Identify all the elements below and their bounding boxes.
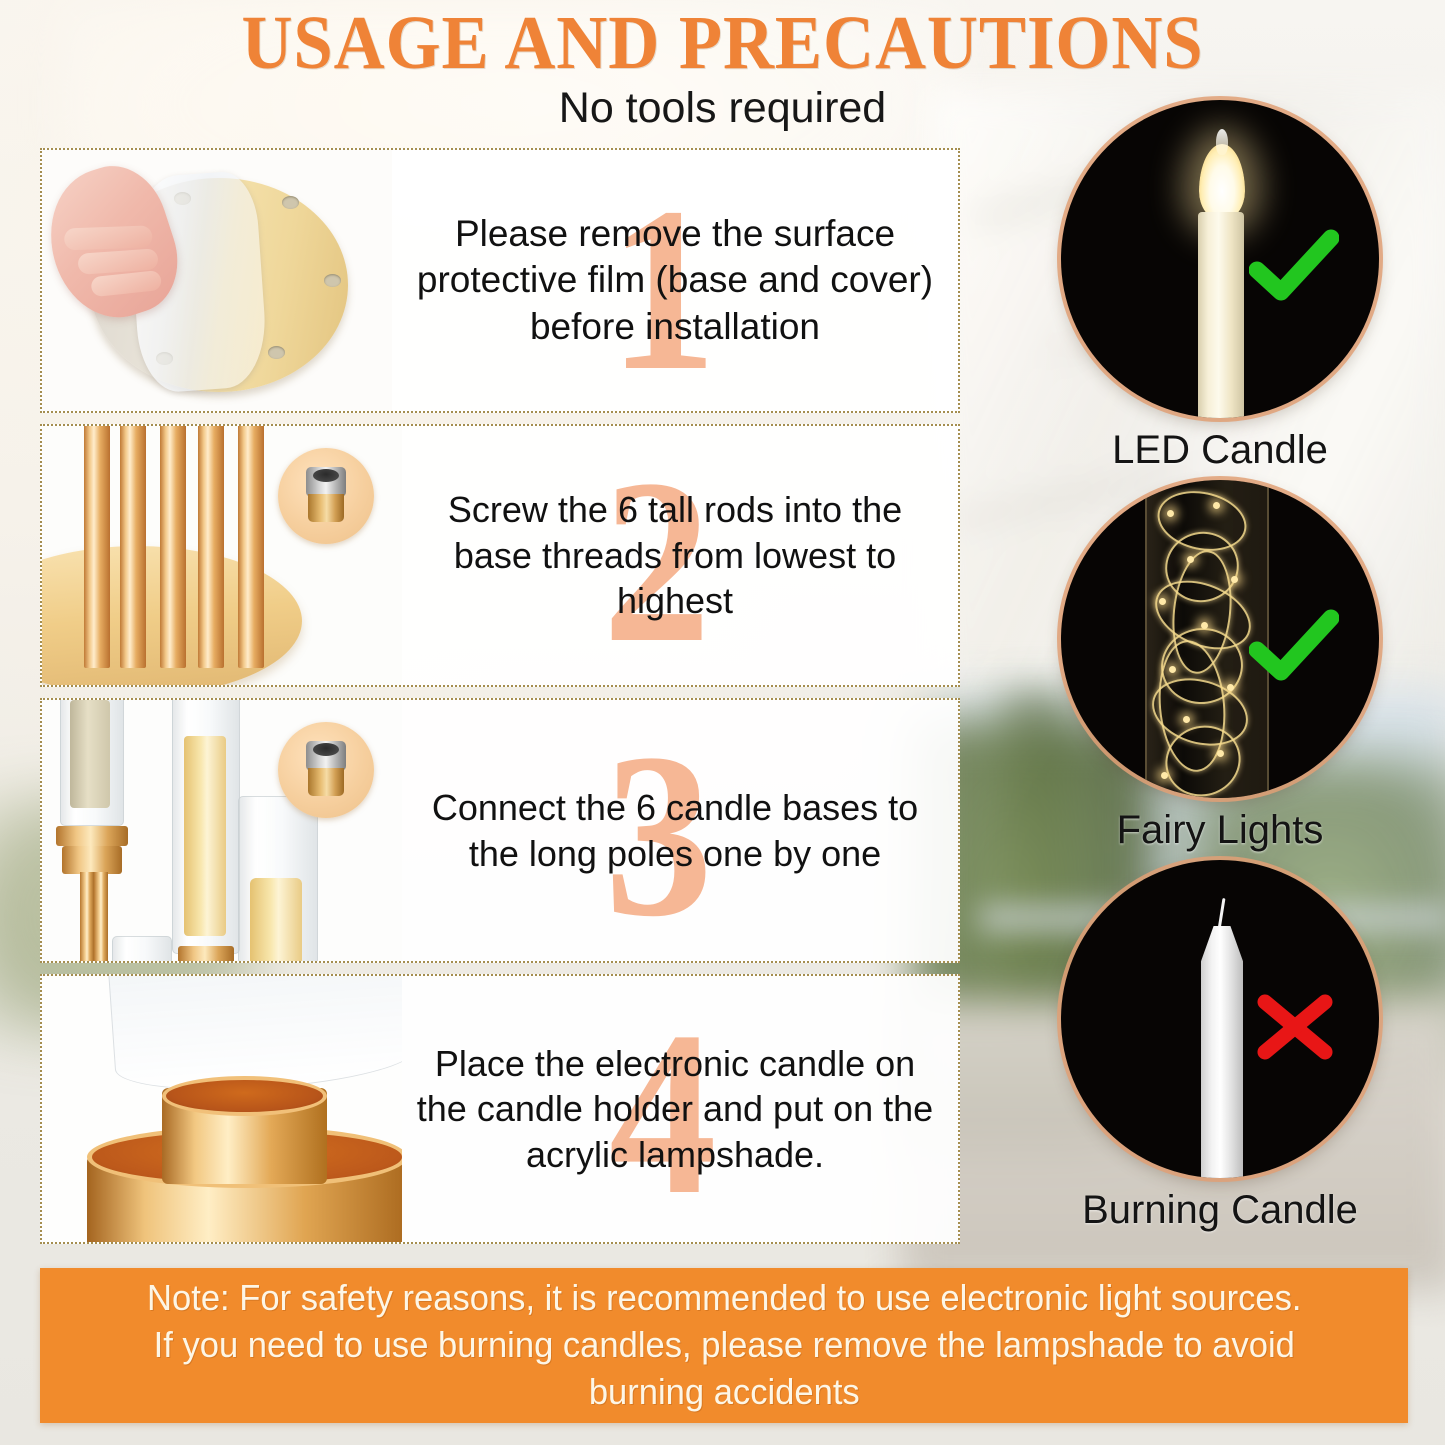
steps-list: 1 Please remove the surface protective f… (40, 148, 960, 1255)
recommendation-label-fairy: Fairy Lights (1020, 808, 1420, 852)
burning-candle-photo (1061, 860, 1379, 1178)
note-line-2: If you need to use burning candles, plea… (153, 1324, 1294, 1365)
step-card-1: 1 Please remove the surface protective f… (40, 148, 960, 413)
step-1-instruction: Please remove the surface protective fil… (392, 211, 958, 351)
led-taper-candle (1198, 212, 1244, 418)
step-4-text-area: 4 Place the electronic candle on the can… (392, 976, 958, 1242)
recommendation-label-burning: Burning Candle (1020, 1188, 1420, 1232)
step-3-text-area: 3 Connect the 6 candle bases to the long… (392, 700, 958, 961)
step-4-photo (42, 976, 402, 1242)
led-candle-photo (1061, 100, 1379, 418)
step-card-3: 3 Connect the 6 candle bases to the long… (40, 698, 960, 963)
white-wax-taper (1201, 926, 1243, 1178)
recommendation-fairy-lights: Fairy Lights (1020, 480, 1420, 852)
green-check-icon (1249, 228, 1339, 304)
step-2-text-area: 2 Screw the 6 tall rods into the base th… (392, 426, 958, 685)
screw-detail-inset-2 (278, 448, 374, 544)
screw-detail-inset-3 (278, 722, 374, 818)
fairy-lights-photo (1061, 480, 1379, 798)
green-check-icon (1249, 608, 1339, 684)
step-2-instruction: Screw the 6 tall rods into the base thre… (392, 487, 958, 623)
red-cross-icon (1249, 988, 1339, 1064)
candle-wick (1218, 898, 1226, 930)
flame-glow (1199, 144, 1245, 220)
step-4-instruction: Place the electronic candle on the candl… (392, 1041, 958, 1177)
safety-note-banner: Note: For safety reasons, it is recommen… (40, 1268, 1408, 1423)
instruction-poster: USAGE AND PRECAUTIONS No tools required (0, 0, 1445, 1445)
step-3-instruction: Connect the 6 candle bases to the long p… (392, 785, 958, 876)
note-line-1: Note: For safety reasons, it is recommen… (147, 1277, 1301, 1318)
step-3-photo (42, 700, 402, 961)
step-card-4: 4 Place the electronic candle on the can… (40, 974, 960, 1244)
threaded-screw-icon (304, 741, 348, 799)
recommendation-led-candle: LED Candle (1020, 100, 1420, 472)
page-title: USAGE AND PRECAUTIONS (51, 4, 1395, 82)
step-card-2: 2 Screw the 6 tall rods into the base th… (40, 424, 960, 687)
recommendations-column: LED Candle (1020, 100, 1420, 1232)
recommendation-label-led: LED Candle (1020, 428, 1420, 472)
step-1-text-area: 1 Please remove the surface protective f… (392, 150, 958, 411)
recommendation-burning-candle: Burning Candle (1020, 860, 1420, 1232)
step-2-photo (42, 426, 402, 685)
step-1-photo (42, 150, 392, 411)
threaded-screw-icon (304, 467, 348, 525)
note-line-3: burning accidents (589, 1371, 860, 1412)
